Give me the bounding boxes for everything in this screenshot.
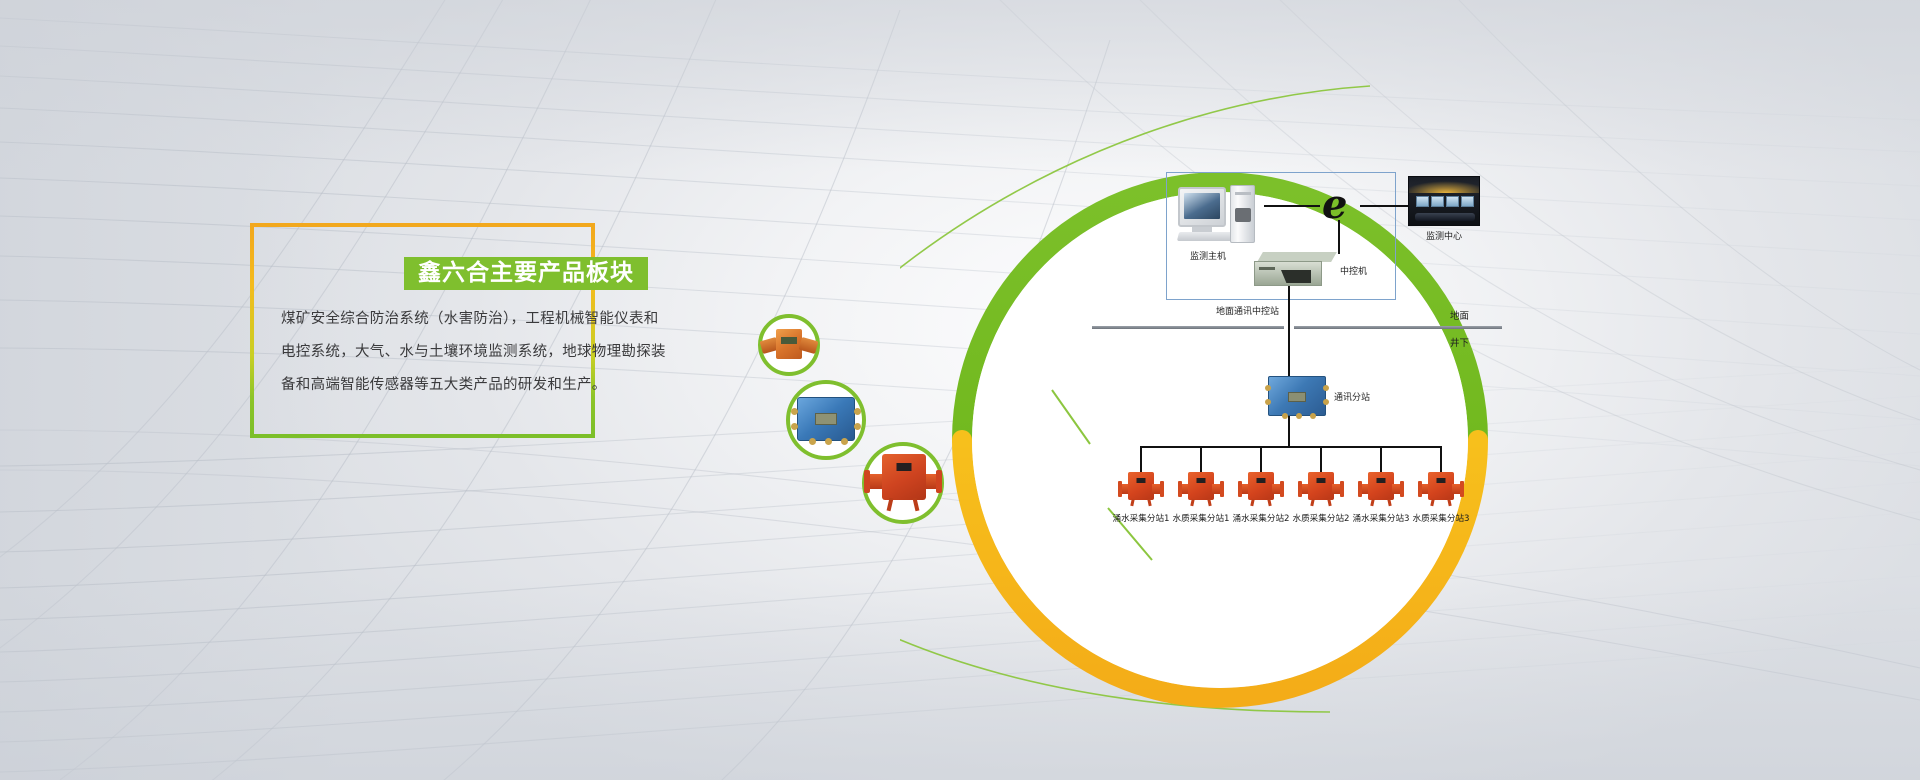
description-line-3: 备和高端智能传感器等五大类产品的研发和生产。 — [281, 369, 705, 402]
node-central-machine-label: 中控机 — [1340, 264, 1367, 277]
product-bubble-blue[interactable] — [786, 380, 866, 460]
ground-level-line-left — [1092, 326, 1284, 329]
collector-device-2 — [1178, 472, 1224, 506]
wire-drop-3 — [1260, 446, 1262, 472]
description-line-2: 电控系统，大气、水与土壤环境监测系统，地球物理勘探装 — [281, 336, 705, 369]
wire-drop-2 — [1200, 446, 1202, 472]
control-room-photo — [1408, 176, 1480, 226]
level-label-underground: 井下 — [1450, 335, 1469, 349]
page-title: 鑫六合主要产品板块 — [418, 262, 634, 285]
banner-stage: 鑫六合主要产品板块 煤矿安全综合防治系统（水害防治），工程机械智能仪表和 电控系… — [0, 0, 1920, 780]
collector-device-5 — [1358, 472, 1404, 506]
ground-station-box-label: 地面通讯中控站 — [1216, 304, 1279, 317]
section-description: 煤矿安全综合防治系统（水害防治），工程机械智能仪表和 电控系统，大气、水与土壤环… — [281, 303, 705, 402]
server-rack-icon — [1254, 252, 1334, 286]
node-comm-substation-label: 通讯分站 — [1334, 390, 1370, 403]
wire-drop-5 — [1380, 446, 1382, 472]
red-flow-station-icon — [864, 454, 942, 512]
wire-cloud-to-central — [1338, 220, 1340, 254]
wire-host-to-cloud — [1264, 205, 1320, 207]
diagram-content: 监测主机 e 监测中心 中控机 — [1078, 130, 1518, 570]
section-title-band: 鑫六合主要产品板块 — [404, 257, 648, 290]
collector-device-6 — [1418, 472, 1464, 506]
blue-junction-box-icon — [791, 395, 861, 445]
ground-level-line-right — [1294, 326, 1502, 329]
product-bubble-red[interactable] — [862, 442, 944, 524]
description-line-1: 煤矿安全综合防治系统（水害防治），工程机械智能仪表和 — [281, 303, 705, 336]
collector-label-6: 水质采集分站3 — [1396, 512, 1486, 524]
level-label-surface: 地面 — [1450, 308, 1469, 322]
wire-substation-trunk — [1288, 416, 1290, 446]
collector-device-1 — [1118, 472, 1164, 506]
wire-drop-6 — [1440, 446, 1442, 472]
desktop-computer-icon — [1178, 185, 1262, 247]
node-monitor-center-label: 监测中心 — [1426, 229, 1462, 242]
wire-collector-bus — [1140, 446, 1442, 448]
internet-e-icon: e — [1322, 188, 1358, 224]
wire-drop-4 — [1320, 446, 1322, 472]
product-bubble-orange[interactable] — [758, 314, 820, 376]
collector-device-3 — [1238, 472, 1284, 506]
node-monitor-host: 监测主机 — [1178, 185, 1262, 247]
collector-device-4 — [1298, 472, 1344, 506]
wire-central-to-substation — [1288, 286, 1290, 376]
blue-substation-icon — [1268, 376, 1326, 416]
wire-drop-1 — [1140, 446, 1142, 472]
orange-clamp-device-icon — [761, 329, 817, 361]
wire-cloud-to-center — [1360, 205, 1412, 207]
node-monitor-host-label: 监测主机 — [1190, 249, 1226, 262]
